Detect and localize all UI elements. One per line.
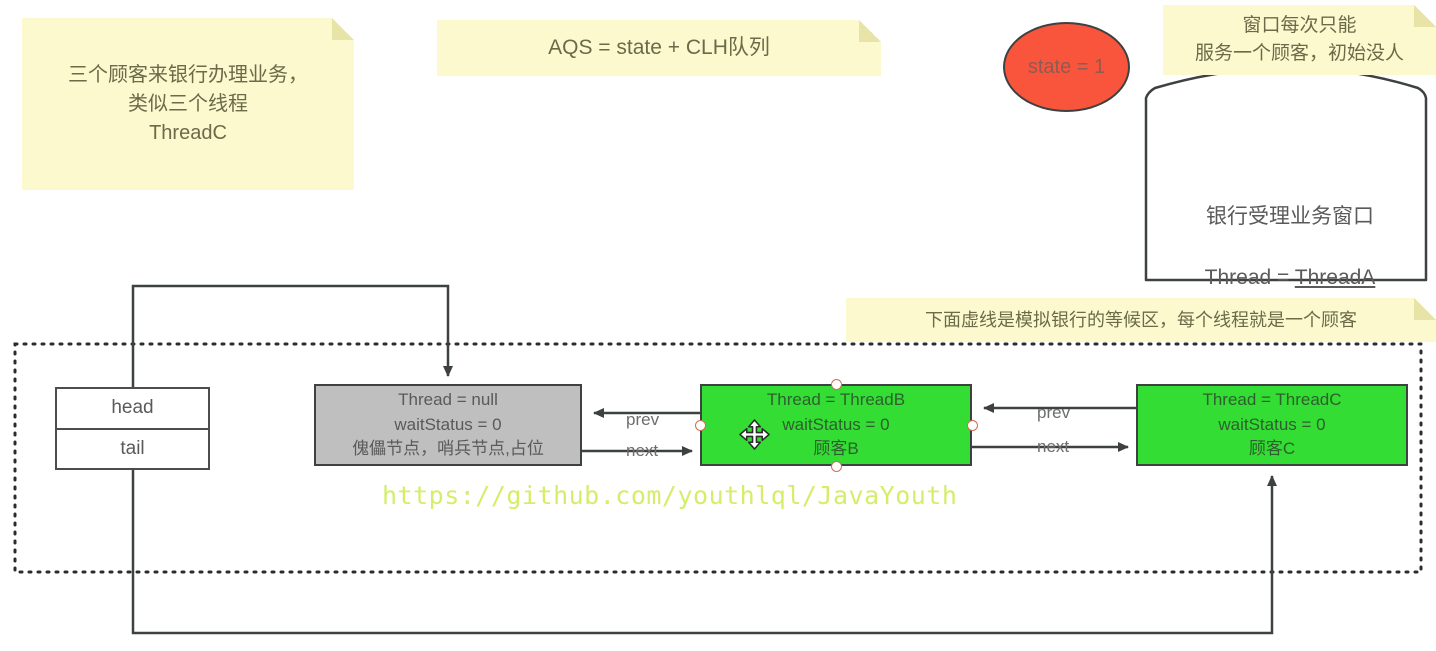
edge-label-prev-1: prev xyxy=(626,410,659,430)
edge-label-next-1: next xyxy=(626,441,658,461)
selection-handle-bottom[interactable] xyxy=(831,461,842,472)
clh-node-threadb-waitstatus: waitStatus = 0 xyxy=(782,413,889,438)
tail-cell[interactable]: tail xyxy=(57,430,208,469)
head-cell[interactable]: head xyxy=(57,389,208,430)
note-three-customers: 三个顾客来银行办理业务， 类似三个线程 ThreadC xyxy=(22,18,354,190)
clh-node-threadb-desc: 顾客B xyxy=(813,437,858,462)
head-tail-box[interactable]: head tail xyxy=(55,387,210,470)
clh-node-threadc-desc: 顾客C xyxy=(1249,437,1295,462)
note-fold-corner xyxy=(859,20,881,42)
clh-node-threadc-waitstatus: waitStatus = 0 xyxy=(1218,413,1325,438)
selection-handle-right[interactable] xyxy=(967,420,978,431)
clh-node-dummy[interactable]: Thread = null waitStatus = 0 傀儡节点，哨兵节点,占… xyxy=(314,384,582,466)
watermark-url: https://github.com/youthlql/JavaYouth xyxy=(382,481,957,510)
head-pointer-edge xyxy=(133,286,448,387)
note-window-rule: 窗口每次只能 服务一个顾客，初始没人 xyxy=(1163,5,1436,75)
bank-window-line2: Thread = ThreadA xyxy=(1145,263,1435,293)
clh-node-threadc[interactable]: Thread = ThreadC waitStatus = 0 顾客C xyxy=(1136,384,1408,466)
selection-handle-top[interactable] xyxy=(831,379,842,390)
note-fold-corner xyxy=(332,18,354,40)
note-aqs-formula-text: AQS = state + CLH队列 xyxy=(548,33,770,63)
bank-window-thread-prefix: Thread = xyxy=(1205,266,1295,289)
bank-window-thread-value: ThreadA xyxy=(1295,266,1376,289)
edge-label-prev-2: prev xyxy=(1037,403,1070,423)
clh-node-threadc-thread: Thread = ThreadC xyxy=(1202,388,1341,413)
bank-window-label: 银行受理业务窗口 Thread = ThreadA xyxy=(1145,172,1435,324)
state-ellipse-label: state = 1 xyxy=(1028,56,1105,79)
bank-window-line1: 银行受理业务窗口 xyxy=(1145,202,1435,232)
clh-node-dummy-thread: Thread = null xyxy=(398,388,498,413)
clh-node-dummy-desc: 傀儡节点，哨兵节点,占位 xyxy=(352,437,544,462)
note-window-rule-text: 窗口每次只能 服务一个顾客，初始没人 xyxy=(1195,12,1404,67)
selection-handle-left[interactable] xyxy=(695,420,706,431)
note-fold-corner xyxy=(1414,5,1436,27)
note-aqs-formula: AQS = state + CLH队列 xyxy=(437,20,881,76)
state-ellipse[interactable]: state = 1 xyxy=(1003,22,1130,112)
note-three-customers-text: 三个顾客来银行办理业务， 类似三个线程 ThreadC xyxy=(68,61,308,148)
move-cursor-icon xyxy=(739,419,770,450)
clh-node-threadb-thread: Thread = ThreadB xyxy=(767,388,905,413)
edge-label-next-2: next xyxy=(1037,437,1069,457)
clh-node-dummy-waitstatus: waitStatus = 0 xyxy=(394,413,501,438)
